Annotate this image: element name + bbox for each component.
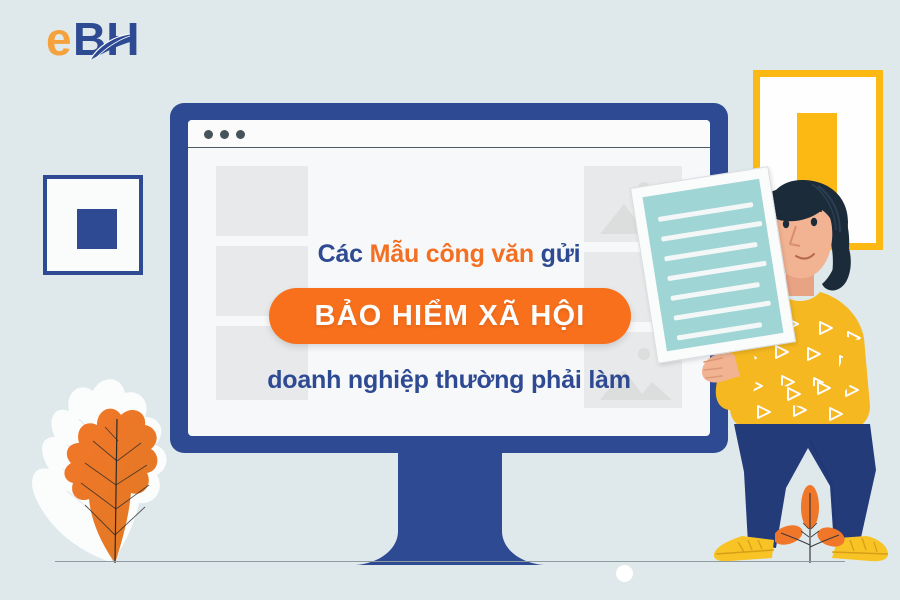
document-text-line bbox=[673, 300, 771, 320]
decoration-square-fill bbox=[77, 209, 117, 249]
monitor-stand bbox=[330, 445, 570, 567]
window-dot-icon[interactable] bbox=[220, 130, 229, 139]
svg-text:e: e bbox=[46, 13, 72, 65]
document-text-line bbox=[677, 322, 763, 340]
banner-canvas: e BH eBH bbox=[0, 0, 900, 600]
document-text-line bbox=[670, 282, 760, 301]
window-controls[interactable] bbox=[204, 130, 245, 139]
ebh-logo[interactable]: e BH eBH bbox=[46, 8, 176, 70]
browser-titlebar bbox=[188, 120, 710, 148]
headline-line-3: doanh nghiệp thường phải làm bbox=[188, 366, 710, 395]
headline-pill-text: BẢO HIỂM XÃ HỘI bbox=[315, 300, 586, 333]
plant-icon bbox=[775, 485, 845, 565]
headline-word-cac: Các bbox=[318, 240, 363, 268]
document-text-line bbox=[667, 261, 767, 282]
decoration-square-outline bbox=[43, 175, 143, 275]
document-body bbox=[643, 179, 784, 352]
small-plant-decoration bbox=[775, 485, 845, 565]
ground-line bbox=[55, 561, 845, 562]
window-dot-icon[interactable] bbox=[204, 130, 213, 139]
headline-pill-badge[interactable]: BẢO HIỂM XÃ HỘI bbox=[269, 288, 631, 344]
document-text-line bbox=[661, 221, 763, 242]
ebh-logo-icon: e BH bbox=[46, 8, 176, 70]
monitor-stand-icon bbox=[330, 445, 570, 567]
document-border bbox=[630, 166, 796, 364]
document-text-line bbox=[658, 202, 754, 222]
placeholder-block bbox=[216, 166, 308, 236]
headline-word-mau: Mẫu công văn bbox=[370, 240, 534, 268]
document-sheet bbox=[630, 166, 796, 364]
headline-word-gui: gửi bbox=[541, 240, 581, 268]
document-text-line bbox=[664, 242, 758, 262]
window-dot-icon[interactable] bbox=[236, 130, 245, 139]
monitor-power-indicator bbox=[616, 565, 633, 582]
browser-window: Các Mẫu công văn gửi BẢO HIỂM XÃ HỘI doa… bbox=[188, 120, 710, 436]
headline-line-1: Các Mẫu công văn gửi bbox=[188, 240, 710, 269]
